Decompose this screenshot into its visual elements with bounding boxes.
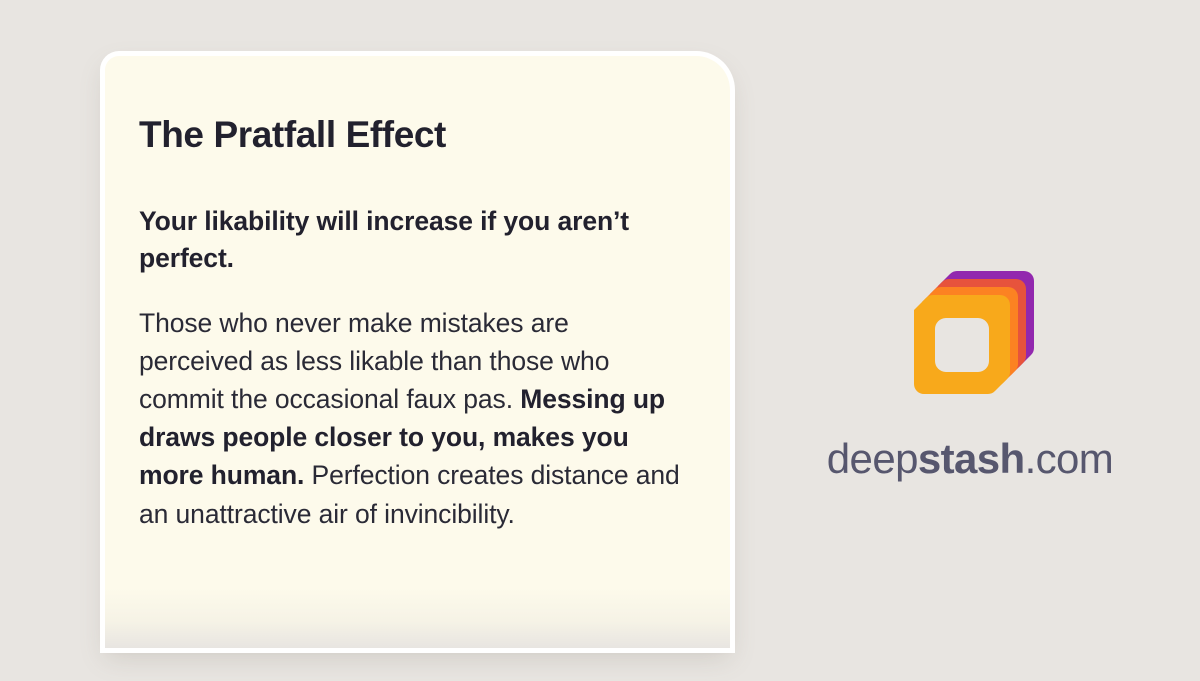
deepstash-logo-icon [884, 240, 1056, 412]
wordmark-highlight: stash [918, 435, 1025, 482]
brand-wordmark: deepstash.com [827, 438, 1113, 480]
idea-title: The Pratfall Effect [139, 114, 688, 157]
wordmark-suffix: .com [1025, 435, 1114, 482]
idea-card-content: The Pratfall Effect Your likability will… [105, 56, 730, 533]
page-canvas: The Pratfall Effect Your likability will… [0, 0, 1200, 681]
idea-card: The Pratfall Effect Your likability will… [105, 56, 730, 648]
logo-center-cutout-icon [935, 318, 989, 372]
card-bottom-fade [105, 588, 730, 648]
idea-lead-paragraph: Your likability will increase if you are… [139, 203, 688, 278]
idea-body-paragraph: Those who never make mistakes are percei… [139, 304, 688, 533]
wordmark-prefix: deep [827, 435, 918, 482]
brand-block: deepstash.com [790, 240, 1150, 480]
